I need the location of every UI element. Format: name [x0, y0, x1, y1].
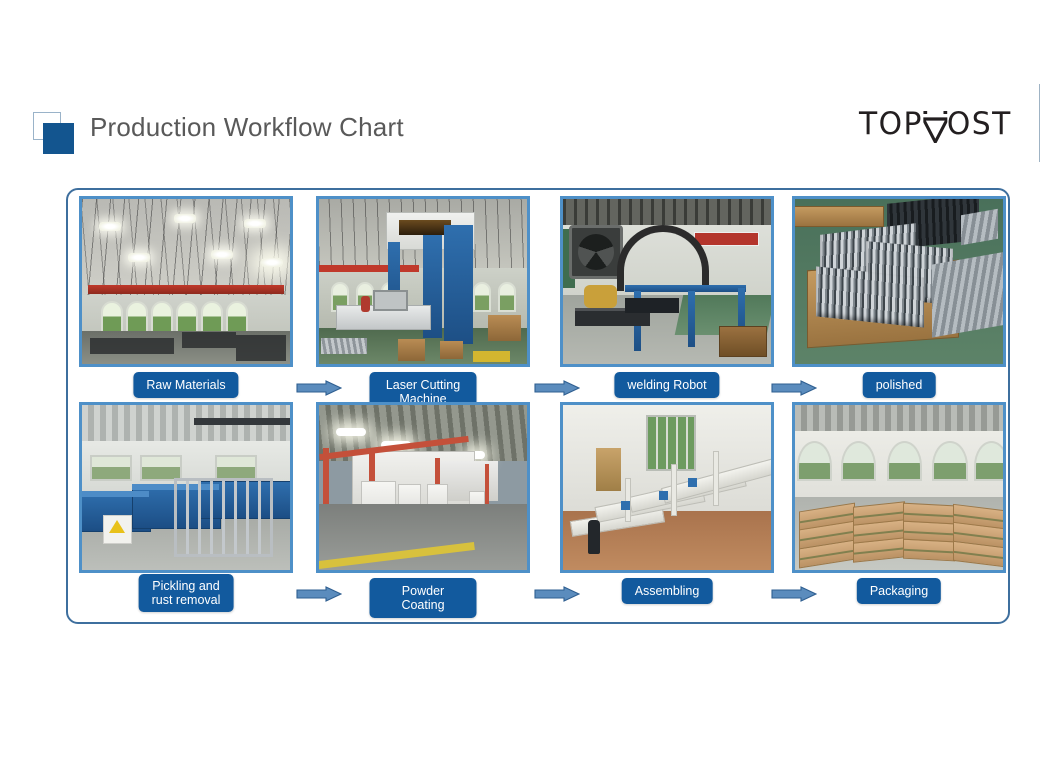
workflow-step-powder-coating[interactable]: Powder Coating [316, 402, 530, 610]
packaging-cartons-photo [792, 402, 1006, 573]
page-header: Production Workflow Chart TOP OST [0, 0, 1060, 175]
powder-coating-line-photo [316, 402, 530, 573]
workflow-row-2: Pickling and rust removal [68, 402, 1012, 612]
pickling-tanks-photo [79, 402, 293, 573]
step-label: polished [863, 372, 936, 398]
brand-wordmark: TOP OST [859, 106, 1012, 142]
assembling-line-photo [560, 402, 774, 573]
brand-text-bottom: OST [947, 106, 1012, 142]
step-label: Packaging [857, 578, 941, 604]
brand-text-top: TOP [859, 106, 923, 142]
factory-warehouse-photo [79, 196, 293, 367]
brand-divider [1039, 84, 1040, 162]
workflow-step-welding-robot[interactable]: welding Robot [560, 196, 774, 404]
step-label: Powder Coating [370, 578, 477, 618]
step-label: welding Robot [614, 372, 719, 398]
page-title: Production Workflow Chart [90, 112, 404, 143]
brand-logo: TOP OST [859, 104, 1018, 144]
step-label: Assembling [622, 578, 713, 604]
workflow-step-assembling[interactable]: Assembling [560, 402, 774, 610]
polished-parts-photo [792, 196, 1006, 367]
workflow-step-polished[interactable]: polished [792, 196, 1006, 404]
workflow-diagram-frame: Raw Materials [66, 188, 1010, 624]
laser-cutting-machine-photo [316, 196, 530, 367]
workflow-step-raw-materials[interactable]: Raw Materials [79, 196, 293, 404]
workflow-step-laser-cutting[interactable]: Laser Cutting Machine [316, 196, 530, 404]
logo-solid-square [43, 123, 74, 154]
welding-robot-photo [560, 196, 774, 367]
workflow-row-1: Raw Materials [68, 196, 1012, 406]
workflow-step-packaging[interactable]: Packaging [792, 402, 1006, 610]
square-logo-icon [33, 112, 75, 154]
step-label: Pickling and rust removal [139, 574, 234, 612]
workflow-step-pickling[interactable]: Pickling and rust removal [79, 402, 293, 610]
step-label: Raw Materials [133, 372, 238, 398]
